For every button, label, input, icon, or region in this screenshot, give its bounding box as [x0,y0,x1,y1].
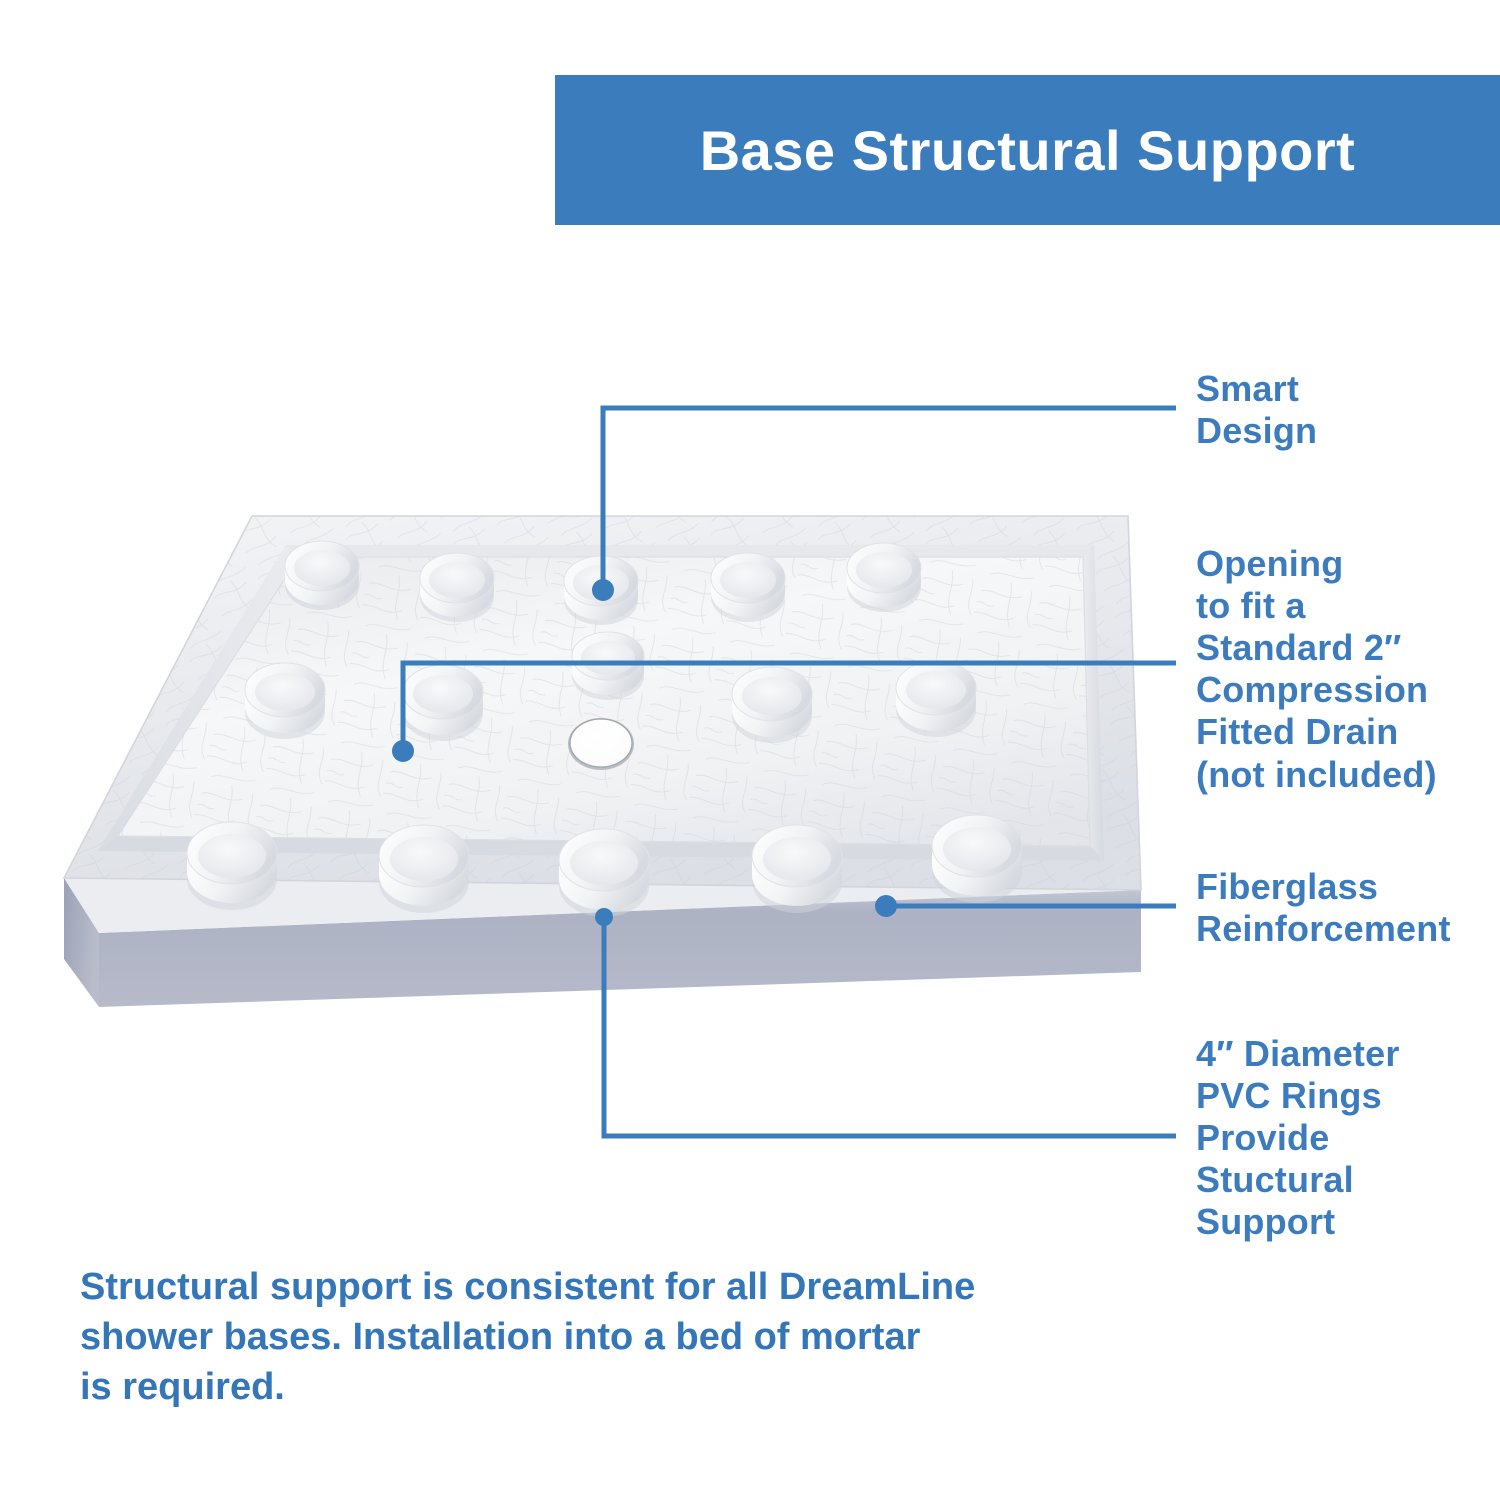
callout-label-drain-opening: Opening to fit a Standard 2″ Compression… [1196,543,1496,796]
callout-label-fiberglass-reinforcement: Fiberglass Reinforcement [1196,866,1496,950]
callout-label-pvc-rings: 4″ Diameter PVC Rings Provide Stuctural … [1196,1033,1496,1244]
leader-line-drain-opening [403,663,1176,751]
leader-line-pvc-rings [604,917,1176,1136]
leader-dot-fiberglass [875,895,897,917]
footnote-text: Structural support is consistent for all… [80,1262,1040,1412]
page-title: Base Structural Support [700,118,1356,183]
leader-dot-drain-opening [392,740,414,762]
leader-dot-pvc-rings [595,908,613,926]
page-root: Base Structural Support Smart Design Ope… [0,0,1500,1500]
leader-dot-smart-design [592,579,614,601]
leader-line-smart-design [603,408,1176,590]
callout-label-smart-design: Smart Design [1196,368,1496,452]
header-banner: Base Structural Support [555,75,1500,225]
